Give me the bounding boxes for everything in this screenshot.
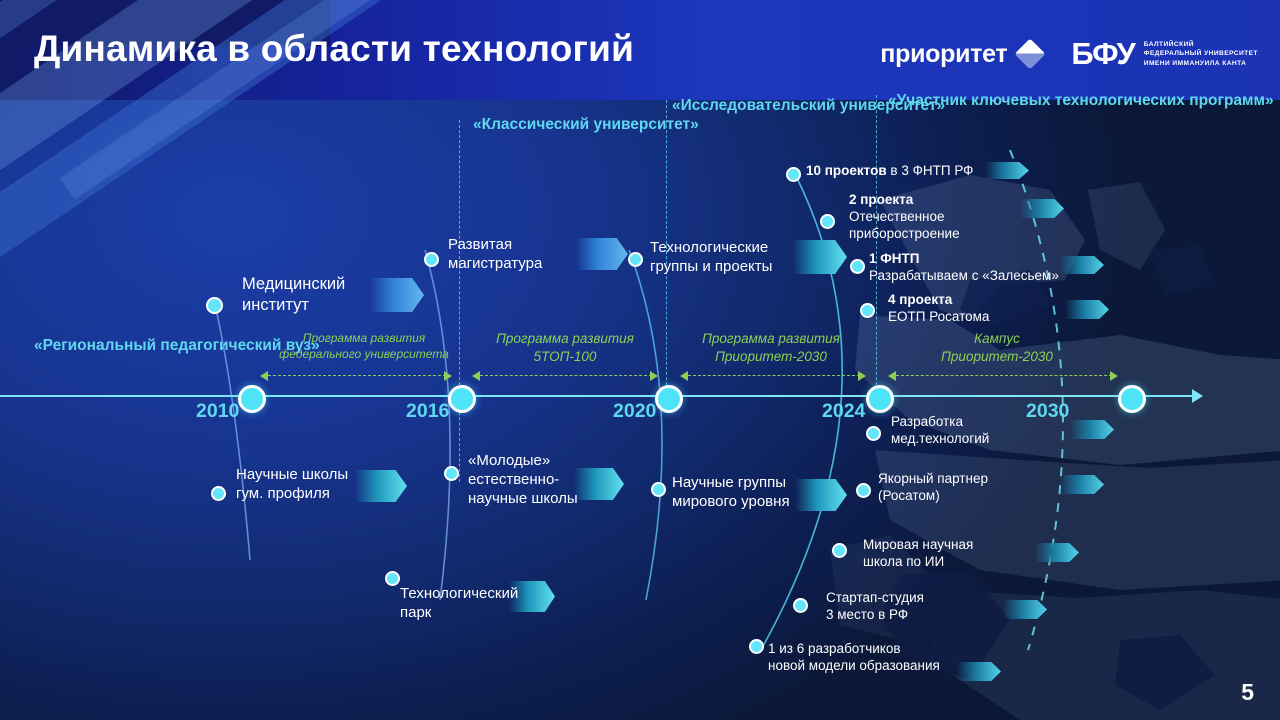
item-dot-med-institute[interactable] [206,297,223,314]
chevron-badge-2-projects [1020,199,1064,218]
program-band-1-line2: федерального университета [268,347,460,363]
item-dot-2-projects[interactable] [820,214,835,229]
item-dot-world-groups[interactable] [651,482,666,497]
program-band-4-arrow-right [1110,371,1118,381]
timeline-axis [0,395,1195,397]
timeline-year-2016: 2016 [406,400,449,423]
item-dot-tech-park[interactable] [385,571,400,586]
chevron-badge-young-schools [574,468,624,500]
item-dot-ai-school[interactable] [832,543,847,558]
item-label-med-tech: Разработка мед.технологий [891,414,989,448]
item-sub-1-fntp: Разрабатываем с «Залесьем» [869,268,1059,283]
program-band-4-line [896,375,1112,376]
chevron-badge-med-institute [370,278,424,312]
chevron-badge-new-edu-model [957,662,1001,681]
timeline-year-2020: 2020 [613,400,656,423]
item-label-world-groups: Научные группы мирового уровня [672,474,790,512]
item-dot-med-tech[interactable] [866,426,881,441]
item-label-1-fntp: 1 ФНТПРазрабатываем с «Залесьем» [869,251,1059,285]
chevron-badge-anchor-partner [1060,475,1104,494]
program-band-2-arrow-left [472,371,480,381]
program-band-1-line1: Программа развития [268,331,460,347]
program-band-4-line1: Кампус [892,330,1102,348]
item-dot-anchor-partner[interactable] [856,483,871,498]
chevron-badge-startup-studio [1003,600,1047,619]
timeline-axis-arrow [1192,389,1203,403]
item-label-med-institute: Медицинский институт [242,274,345,315]
item-label-tech-groups: Технологические группы и проекты [650,239,772,277]
program-band-4-arrow-left [888,371,896,381]
program-band-1-label: Программа развития федерального универси… [268,331,460,362]
page-number: 5 [1241,679,1254,706]
timeline-year-2010: 2010 [196,400,239,423]
timeline-node-2030[interactable] [1118,385,1146,413]
item-dot-new-edu-model[interactable] [749,639,764,654]
program-band-3-line1: Программа развития [676,330,866,348]
item-sub-2-projects: Отечественное приборостроение [849,209,960,241]
item-label-tech-park: Технологический парк [400,585,518,623]
program-band-3-label: Программа развития Приоритет-2030 [676,330,866,365]
item-sub-4-projects: ЕОТП Росатома [888,309,989,324]
item-bold-2-projects: 2 проекта [849,192,913,207]
item-dot-startup-studio[interactable] [793,598,808,613]
program-band-3-arrow-left [680,371,688,381]
timeline-year-2030: 2030 [1026,400,1069,423]
program-band-1-arrow-right [444,371,452,381]
chevron-badge-magistracy [576,238,628,270]
item-dot-young-schools[interactable] [444,466,459,481]
program-band-1-line [268,375,446,376]
timeline-node-2020[interactable] [655,385,683,413]
item-rest-10-projects: в 3 ФНТП РФ [887,163,974,178]
item-label-humanities-schools: Научные школы гум. профиля [236,466,348,504]
item-dot-tech-groups[interactable] [628,252,643,267]
program-band-4-label: Кампус Приоритет-2030 [892,330,1102,365]
chevron-badge-1-fntp [1060,256,1104,274]
item-label-anchor-partner: Якорный партнер (Росатом) [878,471,988,505]
item-dot-magistracy[interactable] [424,252,439,267]
item-label-young-schools: «Молодые» естественно- научные школы [468,452,578,508]
item-label-new-edu-model: 1 из 6 разработчиков новой модели образо… [768,641,940,675]
timeline-node-2024[interactable] [866,385,894,413]
program-band-3-line [688,375,860,376]
item-bold-4-projects: 4 проекта [888,292,952,307]
item-dot-humanities-schools[interactable] [211,486,226,501]
program-band-2-line2: 5ТОП-100 [470,348,660,366]
program-band-3-arrow-right [858,371,866,381]
timeline-node-2010[interactable] [238,385,266,413]
item-label-startup-studio: Стартап-студия 3 место в РФ [826,590,924,624]
item-dot-10-projects[interactable] [786,167,801,182]
item-label-4-projects: 4 проектаЕОТП Росатома [888,292,989,326]
chevron-badge-med-tech [1070,420,1114,439]
program-band-1-arrow-left [260,371,268,381]
chevron-badge-ai-school [1035,543,1079,562]
item-bold-1-fntp: 1 ФНТП [869,251,919,266]
program-band-2-line1: Программа развития [470,330,660,348]
chevron-badge-10-projects [985,162,1029,179]
item-label-10-projects: 10 проектов в 3 ФНТП РФ [806,163,973,180]
item-label-ai-school: Мировая научная школа по ИИ [863,537,973,571]
item-dot-1-fntp[interactable] [850,259,865,274]
item-bold-10-projects: 10 проектов [806,163,887,178]
item-label-2-projects: 2 проектаОтечественное приборостроение [849,192,960,243]
program-band-4-line2: Приоритет-2030 [892,348,1102,366]
chevron-badge-tech-groups [793,240,847,274]
item-label-magistracy: Развитая магистратура [448,236,542,274]
chevron-badge-world-groups [795,479,847,511]
program-band-2-label: Программа развития 5ТОП-100 [470,330,660,365]
timeline-node-2016[interactable] [448,385,476,413]
item-dot-4-projects[interactable] [860,303,875,318]
chevron-badge-4-projects [1065,300,1109,319]
chevron-badge-humanities-schools [355,470,407,502]
slide-canvas: Динамика в области технологий приоритет … [0,0,1280,720]
program-band-2-arrow-right [650,371,658,381]
program-band-3-line2: Приоритет-2030 [676,348,866,366]
program-band-2-line [480,375,652,376]
timeline-year-2024: 2024 [822,400,865,423]
